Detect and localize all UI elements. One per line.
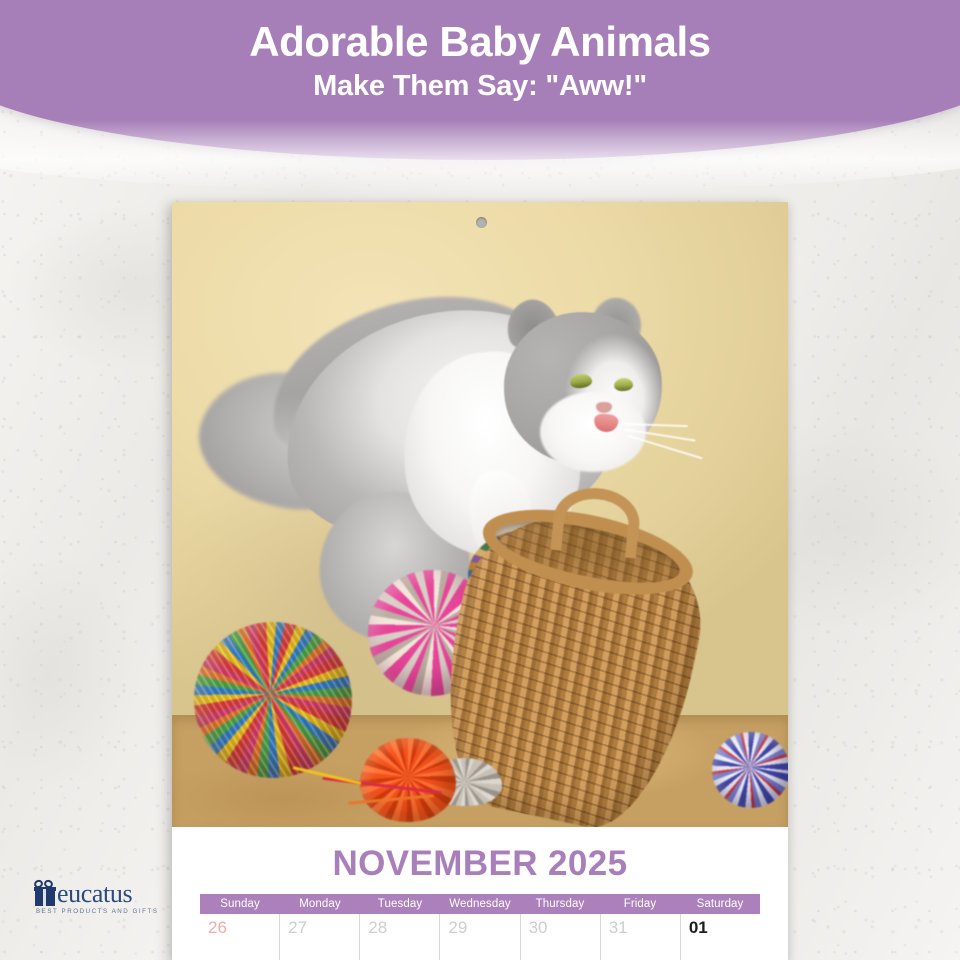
day-cell: 26 [200, 914, 280, 960]
day-cell: 29 [440, 914, 520, 960]
day-number: 28 [368, 919, 439, 936]
weekday-wednesday: Wednesday [440, 894, 520, 914]
calendar-week-row: 26 27 28 29 30 31 01 [200, 914, 760, 960]
weekday-tuesday: Tuesday [360, 894, 440, 914]
brand-tagline: BEST PRODUCTS AND GIFTS [36, 908, 164, 915]
yarn-ball-blue [712, 732, 788, 808]
brand-name: eucatus [57, 882, 132, 906]
yarn-ball-orange [360, 738, 456, 822]
month-title: NOVEMBER 2025 [172, 845, 788, 884]
day-cell: 31 [601, 914, 681, 960]
day-number: 30 [529, 919, 600, 936]
weekday-saturday: Saturday [680, 894, 760, 914]
weekday-header-row: Sunday Monday Tuesday Wednesday Thursday… [200, 894, 760, 914]
weekday-sunday: Sunday [200, 894, 280, 914]
calendar-photo [172, 202, 788, 827]
page-subtitle: Make Them Say: "Aww!" [0, 70, 960, 103]
yarn-ball-rainbow [194, 622, 352, 778]
calendar-grid-section: NOVEMBER 2025 Sunday Monday Tuesday Wedn… [172, 827, 788, 960]
day-cell: 30 [521, 914, 601, 960]
product-image-canvas: Adorable Baby Animals Make Them Say: "Aw… [0, 0, 960, 960]
page-title: Adorable Baby Animals [0, 18, 960, 65]
weekday-monday: Monday [280, 894, 360, 914]
day-number: 01 [689, 919, 760, 936]
day-cell: 01 [681, 914, 760, 960]
day-number: 31 [609, 919, 680, 936]
header-text-block: Adorable Baby Animals Make Them Say: "Aw… [0, 18, 960, 103]
kitten-muzzle [540, 392, 646, 472]
day-cell: 28 [360, 914, 440, 960]
day-number: 29 [448, 919, 519, 936]
weekday-friday: Friday [600, 894, 680, 914]
brand-logo: eucatus BEST PRODUCTS AND GIFTS [34, 882, 164, 922]
day-cell: 27 [280, 914, 360, 960]
day-number: 27 [288, 919, 359, 936]
weekday-thursday: Thursday [520, 894, 600, 914]
wall-calendar: NOVEMBER 2025 Sunday Monday Tuesday Wedn… [172, 202, 788, 960]
day-number: 26 [208, 919, 279, 936]
gift-box-icon [34, 882, 56, 906]
